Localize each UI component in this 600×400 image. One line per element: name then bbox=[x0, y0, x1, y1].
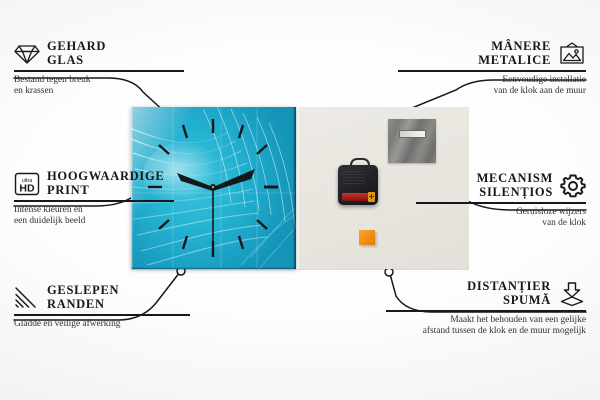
ultra-hd-icon-large-text: HD bbox=[19, 182, 35, 194]
feature-title: DISTANȚIER SPUMĂ bbox=[467, 280, 551, 307]
feature-header: ultra HD HOOGWAARDIGE PRINT bbox=[14, 170, 174, 197]
feature-description: Gladde en veilige afwerking bbox=[14, 319, 190, 330]
metal-hanger-plate bbox=[388, 119, 436, 163]
feature-description: Geruisloze wijzers van de klok bbox=[416, 207, 586, 230]
mechanism-detail bbox=[343, 171, 365, 185]
feature-divider bbox=[14, 200, 174, 202]
clock-hands bbox=[177, 169, 255, 247]
feature-title: HOOGWAARDIGE PRINT bbox=[47, 170, 164, 197]
feature-divider bbox=[386, 310, 586, 312]
feature-title: GESLEPEN RANDEN bbox=[47, 284, 119, 311]
feature-manere-metalice[interactable]: MÂNERE METALICE Eenvoudige installatie v… bbox=[398, 40, 586, 97]
feature-mecanism-silentios[interactable]: MECANISM SILENȚIOS Geruisloze wijzers va… bbox=[416, 172, 586, 229]
feature-hoogwaardige-print[interactable]: ultra HD HOOGWAARDIGE PRINT Intense kleu… bbox=[14, 170, 174, 227]
infographic-canvas: GEHARD GLAS Bestand tegen breuk en krass… bbox=[0, 0, 600, 400]
gear-icon bbox=[560, 173, 586, 199]
ultra-hd-icon: ultra HD bbox=[14, 172, 40, 196]
hanging-loop-icon bbox=[350, 158, 370, 170]
surface-line bbox=[131, 269, 469, 270]
feature-description: Eenvoudige installatie van de klok aan d… bbox=[398, 75, 586, 98]
quartz-mechanism bbox=[338, 165, 378, 205]
feature-geslepen-randen[interactable]: GESLEPEN RANDEN Gladde en veilige afwerk… bbox=[14, 284, 190, 330]
beveled-edge-icon bbox=[14, 286, 40, 310]
wall-mount-frame-icon bbox=[558, 42, 586, 66]
battery-plus-terminal bbox=[368, 192, 375, 202]
feature-distantier-spuma[interactable]: DISTANȚIER SPUMĂ Maakt het behouden van … bbox=[386, 280, 586, 337]
feature-header: MÂNERE METALICE bbox=[398, 40, 586, 67]
glass-edge-right bbox=[293, 107, 296, 269]
feature-header: GEHARD GLAS bbox=[14, 40, 184, 67]
feature-header: DISTANȚIER SPUMĂ bbox=[386, 280, 586, 307]
feature-header: MECANISM SILENȚIOS bbox=[416, 172, 586, 199]
feature-description: Maakt het behouden van een gelijke afsta… bbox=[386, 315, 586, 338]
feature-title: GEHARD GLAS bbox=[47, 40, 106, 67]
feature-description: Bestand tegen breuk en krassen bbox=[14, 75, 184, 98]
spacer-arrow-icon bbox=[558, 281, 586, 307]
feature-description: Intense kleuren en een duidelijk beeld bbox=[14, 205, 174, 228]
feature-divider bbox=[416, 202, 586, 204]
feature-divider bbox=[14, 314, 190, 316]
feature-gehard-glas[interactable]: GEHARD GLAS Bestand tegen breuk en krass… bbox=[14, 40, 184, 97]
hanger-slot bbox=[399, 130, 426, 138]
foam-spacer bbox=[359, 230, 375, 245]
feature-divider bbox=[398, 70, 586, 72]
feature-title: MECANISM SILENȚIOS bbox=[477, 172, 553, 199]
diamond-icon bbox=[14, 43, 40, 65]
feature-header: GESLEPEN RANDEN bbox=[14, 284, 190, 311]
feature-divider bbox=[14, 70, 184, 72]
feature-title: MÂNERE METALICE bbox=[478, 40, 551, 67]
